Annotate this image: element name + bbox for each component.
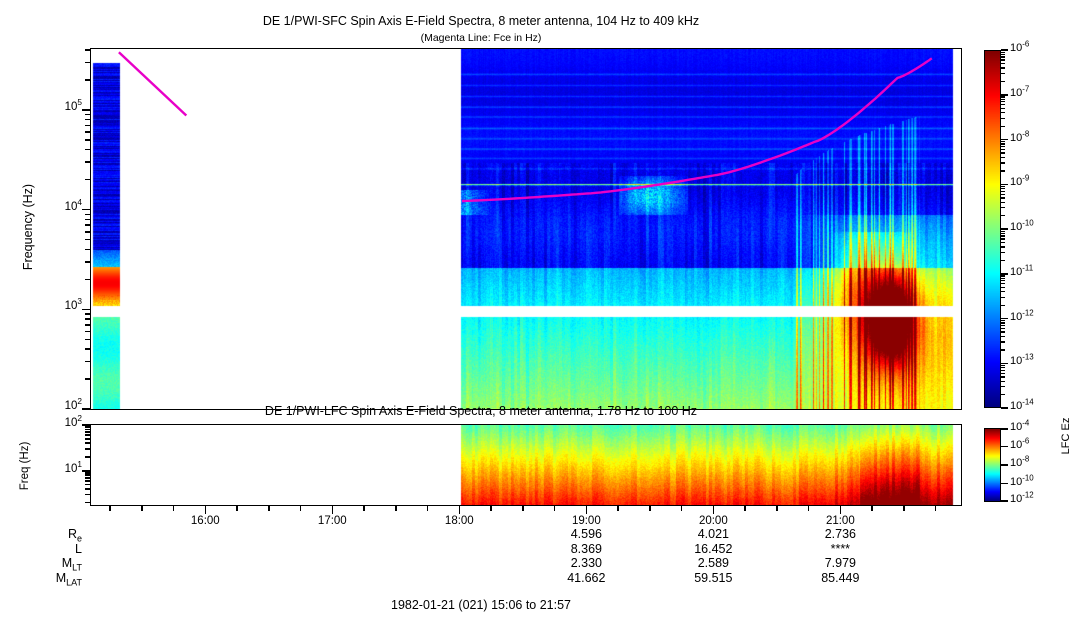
xaxis-major-tick xyxy=(840,506,842,514)
xaxis-tick-label: 18:00 xyxy=(425,515,493,527)
lfc-ytick-1e2: 102 xyxy=(30,417,82,429)
xaxis-minor-tick xyxy=(427,506,429,511)
xaxis-minor-tick xyxy=(935,506,937,511)
sfc-colorbar-minor-tick xyxy=(1001,238,1005,239)
ephemeris-row-label: Re xyxy=(26,527,82,542)
sfc-colorbar-minor-tick xyxy=(1001,305,1005,306)
sfc-colorbar-minor-tick xyxy=(1001,162,1005,163)
xaxis-minor-tick xyxy=(649,506,651,511)
xaxis-tick-label: 16:00 xyxy=(171,515,239,527)
lfc-colorbar-tick-label: 10-8 xyxy=(1010,457,1029,469)
lfc-spectrogram-panel[interactable] xyxy=(90,424,962,506)
sfc-colorbar-minor-tick xyxy=(1001,386,1005,387)
ephemeris-value: 4.021 xyxy=(667,527,759,542)
sfc-yaxis-label: Frequency (Hz) xyxy=(21,147,35,307)
sfc-colorbar-minor-tick xyxy=(1001,280,1005,281)
xaxis-minor-tick xyxy=(268,506,270,511)
sfc-colorbar-minor-tick xyxy=(1001,194,1005,195)
ephemeris-value: 2.589 xyxy=(667,556,759,571)
sfc-colorbar-minor-tick xyxy=(1001,373,1005,374)
sfc-colorbar-minor-tick xyxy=(1001,278,1005,279)
xaxis-minor-tick xyxy=(808,506,810,511)
ephemeris-value: 41.662 xyxy=(540,571,632,586)
sfc-colorbar-minor-tick xyxy=(1001,367,1005,368)
sfc-colorbar-tick-label: 10-13 xyxy=(1010,355,1034,367)
xaxis-minor-tick xyxy=(109,506,111,511)
sfc-colorbar-minor-tick xyxy=(1001,118,1005,119)
ephemeris-row-labels: ReLMLTMLAT xyxy=(26,527,82,585)
sfc-ytick-major xyxy=(82,209,90,211)
ephemeris-value: 8.369 xyxy=(540,542,632,557)
lfc-colorbar xyxy=(984,428,1001,502)
ephemeris-value: 2.736 xyxy=(794,527,886,542)
sfc-plot-title: DE 1/PWI-SFC Spin Axis E-Field Spectra, … xyxy=(0,14,962,28)
xaxis-minor-tick xyxy=(363,506,365,511)
sfc-colorbar-minor-tick xyxy=(1001,331,1005,332)
lfc-colorbar-tick xyxy=(1001,446,1008,448)
xaxis-minor-tick xyxy=(681,506,683,511)
xaxis-tick-label: 17:00 xyxy=(298,515,366,527)
xaxis-minor-tick xyxy=(776,506,778,511)
sfc-colorbar-minor-tick xyxy=(1001,320,1005,321)
xaxis-minor-tick xyxy=(522,506,524,511)
sfc-colorbar-minor-tick xyxy=(1001,146,1005,147)
sfc-colorbar xyxy=(984,50,1001,408)
xaxis-tick-label: 20:00 xyxy=(679,515,747,527)
ephemeris-value: 7.979 xyxy=(794,556,886,571)
sfc-colorbar-minor-tick xyxy=(1001,141,1005,142)
sfc-colorbar-minor-tick xyxy=(1001,108,1005,109)
xaxis-minor-tick xyxy=(141,506,143,511)
ephemeris-value: 16.452 xyxy=(667,542,759,557)
sfc-colorbar-minor-tick xyxy=(1001,291,1005,292)
sfc-colorbar-minor-tick xyxy=(1001,242,1005,243)
xaxis-minor-tick xyxy=(871,506,873,511)
sfc-colorbar-tick-label: 10-11 xyxy=(1010,266,1033,278)
sfc-colorbar-minor-tick xyxy=(1001,207,1005,208)
lfc-colorbar-tick-label: 10-10 xyxy=(1010,476,1034,488)
xaxis-minor-tick xyxy=(395,506,397,511)
sfc-colorbar-minor-tick xyxy=(1001,246,1005,247)
sfc-colorbar-minor-tick xyxy=(1001,202,1005,203)
sfc-colorbar-major-tick xyxy=(1001,407,1008,409)
sfc-colorbar-minor-tick xyxy=(1001,101,1005,102)
sfc-colorbar-minor-tick xyxy=(1001,63,1005,64)
sfc-colorbar-minor-tick xyxy=(1001,59,1005,60)
sfc-colorbar-minor-tick xyxy=(1001,328,1005,329)
ephemeris-value: **** xyxy=(794,542,886,557)
lfc-colorbar-tick-label: 10-12 xyxy=(1010,493,1034,505)
sfc-colorbar-tick-label: 10-10 xyxy=(1010,221,1034,233)
lfc-colorbar-gradient xyxy=(985,429,1000,501)
sfc-colorbar-minor-tick xyxy=(1001,191,1005,192)
lfc-colorbar-tick xyxy=(1001,483,1008,485)
xaxis-major-tick xyxy=(459,506,461,514)
sfc-colorbar-minor-tick xyxy=(1001,126,1005,127)
xaxis-minor-tick xyxy=(236,506,238,511)
sfc-colorbar-minor-tick xyxy=(1001,287,1005,288)
xaxis-major-tick xyxy=(586,506,588,514)
sfc-ytick-major xyxy=(82,309,90,311)
sfc-colorbar-minor-tick xyxy=(1001,81,1005,82)
ephemeris-row-label: MLT xyxy=(26,556,82,571)
sfc-colorbar-minor-tick xyxy=(1001,188,1005,189)
xaxis-tick-label: 19:00 xyxy=(552,515,620,527)
lfc-colorbar-tick xyxy=(1001,428,1008,430)
sfc-colorbar-minor-tick xyxy=(1001,322,1005,323)
sfc-colorbar-minor-tick xyxy=(1001,56,1005,57)
sfc-colorbar-minor-tick xyxy=(1001,197,1005,198)
sfc-colorbar-minor-tick xyxy=(1001,149,1005,150)
lfc-colorbar-tick-label: 10-6 xyxy=(1010,439,1029,451)
sfc-spectrogram-panel[interactable] xyxy=(90,48,962,410)
sfc-colorbar-tick-label: 10-9 xyxy=(1010,176,1029,188)
sfc-colorbar-minor-tick xyxy=(1001,252,1005,253)
sfc-colorbar-minor-tick xyxy=(1001,325,1005,326)
sfc-colorbar-minor-tick xyxy=(1001,381,1005,382)
sfc-colorbar-minor-tick xyxy=(1001,233,1005,234)
lfc-plot-area xyxy=(91,425,961,505)
ephemeris-row-label: L xyxy=(26,542,82,557)
sfc-colorbar-minor-tick xyxy=(1001,365,1005,366)
sfc-colorbar-minor-tick xyxy=(1001,394,1005,395)
lfc-colorbar-tick-label: 10-4 xyxy=(1010,421,1029,433)
plot-caption: 1982-01-21 (021) 15:06 to 21:57 xyxy=(0,598,962,612)
sfc-heatmap-canvas xyxy=(91,49,961,409)
sfc-plot-subtitle: (Magenta Line: Fce in Hz) xyxy=(0,32,962,44)
sfc-ytick-1e3: 103 xyxy=(20,300,82,312)
sfc-colorbar-minor-tick xyxy=(1001,341,1005,342)
sfc-colorbar-minor-tick xyxy=(1001,376,1005,377)
sfc-colorbar-minor-tick xyxy=(1001,112,1005,113)
xaxis-major-tick xyxy=(205,506,207,514)
ephemeris-column: 4.5968.3692.33041.662 xyxy=(540,527,632,585)
sfc-colorbar-minor-tick xyxy=(1001,99,1005,100)
sfc-colorbar-minor-tick xyxy=(1001,297,1005,298)
xaxis-major-tick xyxy=(713,506,715,514)
sfc-ytick-1e5: 105 xyxy=(20,101,82,113)
sfc-colorbar-minor-tick xyxy=(1001,235,1005,236)
sfc-colorbar-minor-tick xyxy=(1001,370,1005,371)
sfc-colorbar-minor-tick xyxy=(1001,67,1005,68)
xaxis-minor-tick xyxy=(554,506,556,511)
lfc-colorbar-tick xyxy=(1001,500,1008,502)
sfc-colorbar-minor-tick xyxy=(1001,215,1005,216)
sfc-colorbar-minor-tick xyxy=(1001,96,1005,97)
sfc-colorbar-minor-tick xyxy=(1001,143,1005,144)
sfc-colorbar-minor-tick xyxy=(1001,152,1005,153)
ephemeris-row-label: MLAT xyxy=(26,571,82,586)
lfc-colorbar-tick xyxy=(1001,464,1008,466)
xaxis-minor-tick xyxy=(903,506,905,511)
lfc-heatmap-canvas xyxy=(91,425,961,505)
sfc-colorbar-tick-label: 10-6 xyxy=(1010,42,1029,54)
xaxis-major-tick xyxy=(332,506,334,514)
sfc-plot-area xyxy=(91,49,961,409)
ephemeris-value: 4.596 xyxy=(540,527,632,542)
sfc-colorbar-minor-tick xyxy=(1001,157,1005,158)
ephemeris-column: 2.736****7.97985.449 xyxy=(794,527,886,585)
xaxis-minor-tick xyxy=(617,506,619,511)
sfc-colorbar-minor-tick xyxy=(1001,283,1005,284)
xaxis-minor-tick xyxy=(744,506,746,511)
sfc-colorbar-minor-tick xyxy=(1001,349,1005,350)
lfc-ytick-1e1: 101 xyxy=(30,463,82,475)
xaxis-minor-tick xyxy=(173,506,175,511)
sfc-colorbar-minor-tick xyxy=(1001,170,1005,171)
lfc-plot-title: DE 1/PWI-LFC Spin Axis E-Field Spectra, … xyxy=(0,404,962,418)
sfc-colorbar-gradient xyxy=(985,51,1000,407)
xaxis-tick-label: 21:00 xyxy=(806,515,874,527)
sfc-colorbar-minor-tick xyxy=(1001,260,1005,261)
sfc-ytick-major xyxy=(82,109,90,111)
sfc-colorbar-minor-tick xyxy=(1001,336,1005,337)
sfc-colorbar-tick-label: 10-7 xyxy=(1010,87,1029,99)
sfc-colorbar-minor-tick xyxy=(1001,186,1005,187)
lfc-colorbar-label: LFC Ez xyxy=(1060,376,1072,496)
xaxis-minor-tick xyxy=(300,506,302,511)
ephemeris-value: 2.330 xyxy=(540,556,632,571)
ephemeris-column: 4.02116.4522.58959.515 xyxy=(667,527,759,585)
sfc-colorbar-tick-label: 10-12 xyxy=(1010,311,1034,323)
ephemeris-value: 59.515 xyxy=(667,571,759,586)
sfc-colorbar-minor-tick xyxy=(1001,73,1005,74)
xaxis-minor-tick xyxy=(490,506,492,511)
sfc-colorbar-minor-tick xyxy=(1001,52,1005,53)
sfc-ytick-1e4: 104 xyxy=(20,201,82,213)
sfc-colorbar-tick-label: 10-8 xyxy=(1010,132,1029,144)
sfc-colorbar-minor-tick xyxy=(1001,54,1005,55)
sfc-colorbar-tick-label: 10-14 xyxy=(1010,400,1034,412)
sfc-colorbar-minor-tick xyxy=(1001,104,1005,105)
sfc-colorbar-minor-tick xyxy=(1001,231,1005,232)
sfc-colorbar-minor-tick xyxy=(1001,275,1005,276)
ephemeris-value: 85.449 xyxy=(794,571,886,586)
